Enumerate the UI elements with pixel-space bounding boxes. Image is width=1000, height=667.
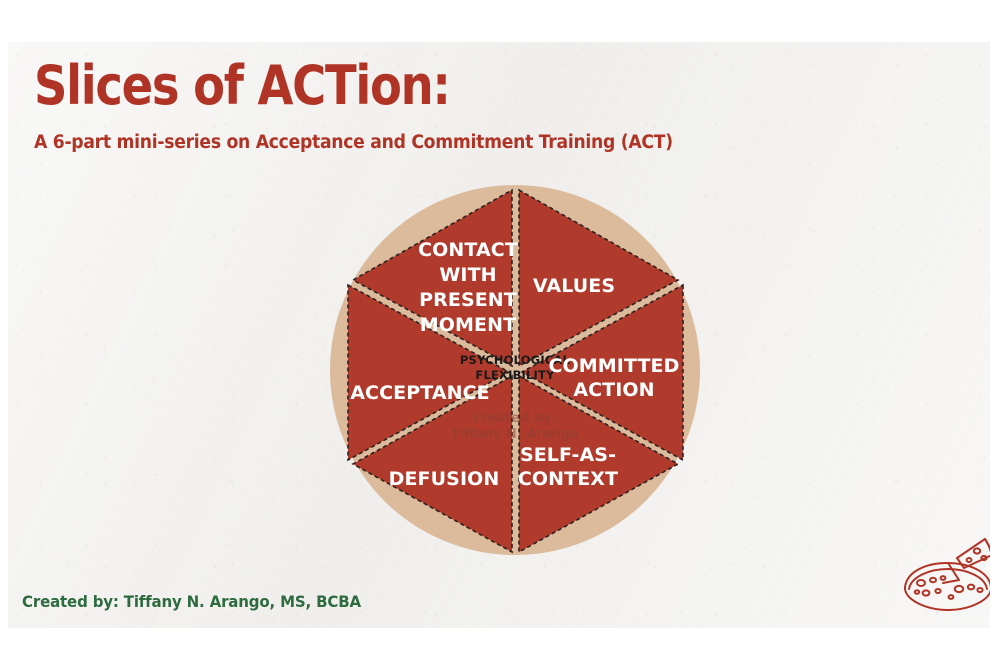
pizza-slice-topping-1 (974, 548, 980, 553)
pizza-topping-2 (930, 578, 936, 583)
label-contact-line-2: WITH (439, 264, 496, 286)
label-self-as-context-line-1: SELF-AS- (520, 444, 616, 466)
pizza-base-shape (905, 563, 990, 610)
author-credit: Created by: Tiffany N. Arango, MS, BCBA (22, 592, 361, 611)
pizza-slice-topping-3 (967, 558, 972, 562)
center-line-2: FLEXIBILITY (475, 368, 555, 382)
slide-canvas: Slices of ACTion: A 6-part mini-series o… (8, 42, 990, 628)
watermark-line-1: created by: (473, 411, 557, 426)
label-defusion: DEFUSION (389, 468, 500, 490)
pizza-slice-crust (985, 539, 990, 555)
label-values: VALUES (533, 275, 615, 297)
pizza-topping-8 (968, 585, 974, 590)
watermark-line-2: Tiffany N. Arango (451, 427, 579, 442)
label-contact-line-1: CONTACT (418, 239, 518, 261)
pizza-topping-10 (949, 595, 954, 599)
label-committed-line-1: COMMITTED (549, 355, 680, 377)
pizza-topping-6 (915, 590, 919, 594)
pizza-topping-9 (977, 588, 982, 592)
label-committed-line-2: ACTION (573, 379, 654, 401)
pizza-topping-7 (955, 586, 963, 592)
label-acceptance: ACCEPTANCE (350, 382, 490, 404)
label-contact-line-4: MOMENT (420, 314, 516, 336)
label-contact-line-3: PRESENT (419, 289, 517, 311)
pizza-topping-1 (917, 580, 925, 586)
pizza-topping-3 (941, 576, 946, 580)
pizza-icon (893, 527, 990, 622)
hexaflex-diagram: created by: Tiffany N. Arango PSYCHOLOGI… (8, 42, 990, 628)
pizza-topping-5 (935, 589, 940, 593)
label-self-as-context-line-2: CONTEXT (518, 468, 618, 490)
pizza-topping-4 (923, 590, 930, 595)
